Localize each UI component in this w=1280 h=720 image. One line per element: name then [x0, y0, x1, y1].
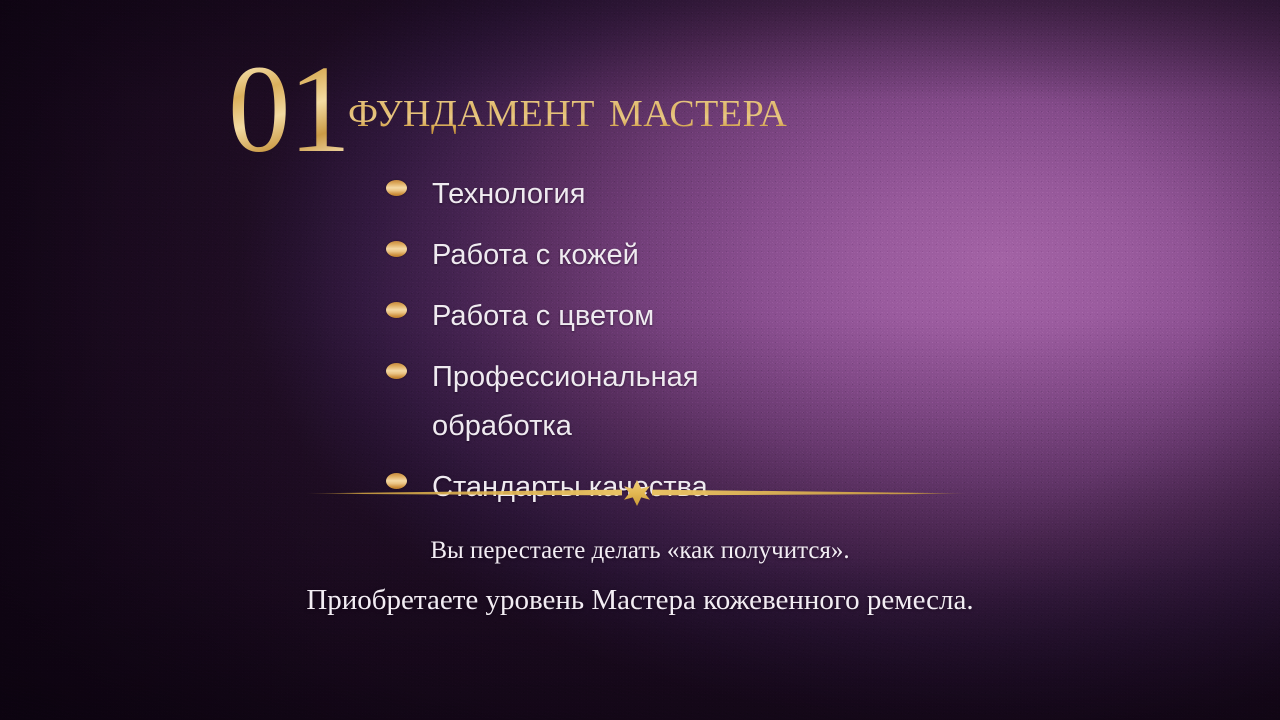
footer-line-secondary: Приобретаете уровень Мастера кожевенного… — [0, 578, 1280, 622]
divider-graphic — [300, 478, 972, 508]
slide-footer: Вы перестаете делать «как получится». Пр… — [0, 532, 1280, 622]
section-number: 01 — [228, 48, 349, 173]
list-item: Технология — [386, 170, 866, 219]
page-title: Фундамент мастера — [348, 81, 787, 135]
gold-ellipse-bullet-icon — [386, 241, 407, 257]
list-item: Работа с кожей — [386, 231, 866, 280]
list-item: Работа с цветом — [386, 292, 866, 341]
list-item-label: Работа с кожей — [432, 231, 639, 280]
six-pointed-star-icon — [624, 480, 650, 506]
gold-ellipse-bullet-icon — [386, 363, 407, 379]
presentation-slide: 01 Фундамент мастера Технология Работа с… — [0, 0, 1280, 720]
bullet-list: Технология Работа с кожей Работа с цвето… — [386, 170, 866, 524]
decorative-divider — [300, 478, 972, 508]
gold-ellipse-bullet-icon — [386, 302, 407, 318]
list-item-label: Технология — [432, 170, 585, 219]
list-item: Профессиональная обработка — [386, 353, 866, 451]
list-item-label: Работа с цветом — [432, 292, 654, 341]
footer-line-primary: Вы перестаете делать «как получится». — [0, 532, 1280, 570]
slide-header: 01 Фундамент мастера — [228, 48, 1088, 178]
gold-ellipse-bullet-icon — [386, 180, 407, 196]
list-item-label: Профессиональная обработка — [432, 353, 762, 451]
